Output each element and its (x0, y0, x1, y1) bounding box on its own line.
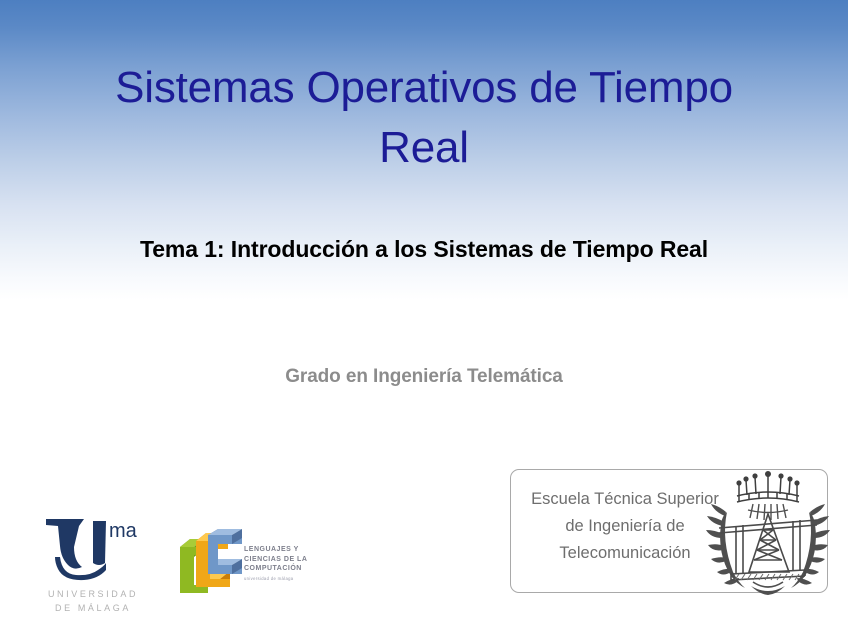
slide-topic-heading: Tema 1: Introducción a los Sistemas de T… (40, 236, 808, 263)
etsit-logo-box: Escuela Técnica Superior de Ingeniería d… (510, 469, 828, 593)
uma-caption: UNIVERSIDAD DE MÁLAGA (38, 587, 148, 615)
presentation-slide: Sistemas Operativos de Tiempo Real Tema … (0, 0, 848, 636)
slide-degree-subtitle: Grado en Ingeniería Telemática (40, 366, 808, 388)
etsit-crest-icon (705, 462, 831, 600)
lcc-line-1: LENGUAJES Y (244, 545, 330, 555)
lcc-line-3: COMPUTACIÓN (244, 564, 330, 574)
uma-u-mark-icon: ma (38, 513, 142, 585)
uma-ma-wordmark: ma (109, 520, 138, 542)
etsit-school-name: Escuela Técnica Superior de Ingeniería d… (519, 486, 731, 567)
lcc-logo: LENGUAJES Y CIENCIAS DE LA COMPUTACIÓN u… (178, 527, 328, 603)
lcc-blocks-icon (178, 527, 246, 601)
lcc-subline: universidad de málaga (244, 575, 330, 583)
lcc-wordmark: LENGUAJES Y CIENCIAS DE LA COMPUTACIÓN u… (244, 545, 330, 583)
uma-logo: ma UNIVERSIDAD DE MÁLAGA (38, 513, 153, 625)
lcc-line-2: CIENCIAS DE LA (244, 555, 330, 565)
slide-title: Sistemas Operativos de Tiempo Real (40, 58, 808, 178)
